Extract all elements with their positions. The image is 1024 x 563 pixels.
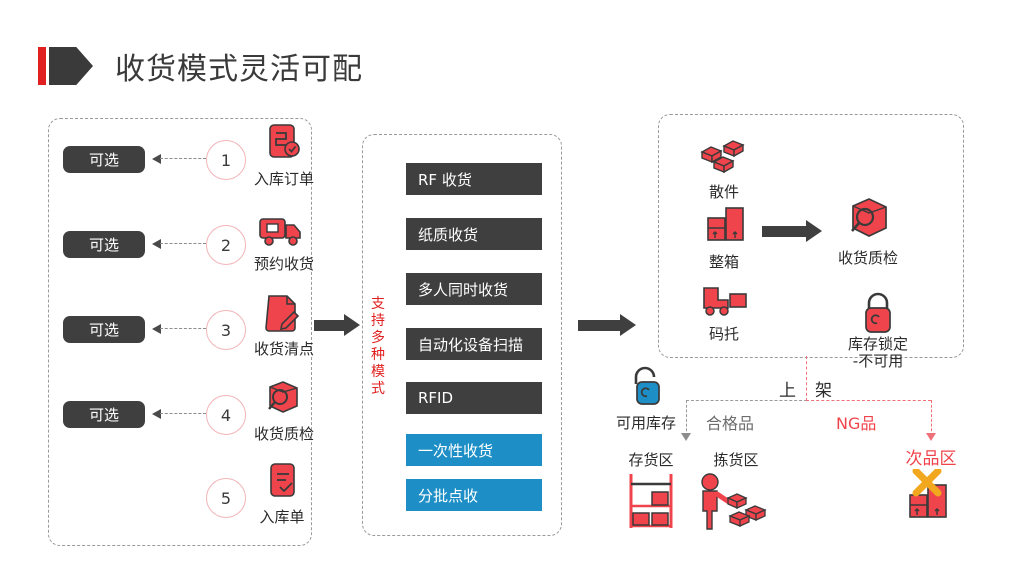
item-caption: 预约收货 — [254, 253, 310, 274]
step-number-circle: 4 — [206, 395, 246, 435]
destination-picking: 拣货区 — [686, 447, 786, 534]
mode-bar-rfid[interactable]: RFID — [406, 382, 542, 414]
item-icon-group: 收货质检 — [254, 377, 310, 444]
destination-caption: 存货区 — [605, 449, 697, 470]
list-item[interactable]: 可选 3 收货清点 — [48, 300, 310, 372]
receiving-inspection: 收货质检 — [818, 192, 918, 268]
item-icon-group: 入库单 — [254, 460, 310, 527]
lock-closed-icon — [832, 284, 924, 336]
quality-inspect-box-icon — [818, 192, 918, 244]
unit-pallet: 码托 — [684, 268, 764, 344]
available-stock-caption: 可用库存 — [600, 412, 692, 433]
mode-bar-onetime[interactable]: 一次性收货 — [406, 434, 542, 466]
inbound-order-icon — [254, 122, 310, 166]
defective-boxes-x-icon — [885, 469, 977, 539]
putaway-label-left: 上 — [779, 376, 796, 401]
available-stock: 可用库存 — [600, 366, 692, 433]
mode-bar-paper[interactable]: 纸质收货 — [406, 218, 542, 250]
picker-person-icon — [686, 470, 786, 534]
list-item[interactable]: 5 入库单 — [48, 468, 310, 540]
branch-ok-label: 合格品 — [706, 410, 754, 434]
branch-ng-label: NG品 — [836, 410, 876, 434]
inbound-receipt-doc-icon — [254, 460, 310, 504]
dashed-arrow-icon — [152, 413, 206, 415]
locked-caption-line2: -不可用 — [832, 353, 924, 370]
inspect-arrow-icon — [762, 220, 824, 242]
putaway-label-right: 架 — [815, 376, 832, 401]
optional-badge: 可选 — [63, 146, 145, 173]
destination-caption: 次品区 — [885, 444, 977, 469]
dashed-arrow-icon — [152, 243, 206, 245]
destination-caption: 拣货区 — [686, 449, 786, 470]
list-item[interactable]: 可选 4 收货质检 — [48, 385, 310, 457]
step-number-circle: 5 — [206, 478, 246, 518]
title-red-bar-icon — [38, 47, 46, 85]
locked-caption-line1: 库存锁定 — [832, 336, 924, 353]
item-icon-group: 收货清点 — [254, 292, 310, 359]
mid-panel-vertical-label: 支持多种模式 — [368, 296, 388, 398]
title-arrow-icon — [49, 47, 93, 85]
mode-bar-batch[interactable]: 分批点收 — [406, 479, 542, 511]
inspection-caption: 收货质检 — [818, 247, 918, 268]
mode-bar-multiuser[interactable]: 多人同时收货 — [406, 273, 542, 305]
item-icon-group: 预约收货 — [254, 207, 310, 274]
slide-canvas: 收货模式灵活可配 可选 1 入库订单 可选 2 — [0, 0, 1024, 563]
list-item[interactable]: 可选 1 入库订单 — [48, 130, 310, 202]
list-item[interactable]: 可选 2 预约收货 — [48, 215, 310, 287]
unit-case: 整箱 — [684, 196, 764, 272]
page-title: 收货模式灵活可配 — [38, 44, 363, 88]
unit-loose: 散件 — [684, 126, 764, 202]
quality-inspect-box-icon — [254, 377, 310, 421]
mode-bar-autoscan[interactable]: 自动化设备扫描 — [406, 328, 542, 360]
unit-caption: 码托 — [684, 323, 764, 344]
appointment-truck-icon — [254, 207, 310, 251]
dashed-arrow-icon — [152, 158, 206, 160]
putaway-vertical-line — [806, 356, 807, 401]
optional-badge: 可选 — [63, 316, 145, 343]
mode-bar-rf[interactable]: RF 收货 — [406, 163, 542, 195]
dashed-arrow-icon — [152, 328, 206, 330]
loose-pieces-icon — [684, 126, 764, 178]
optional-badge: 可选 — [63, 231, 145, 258]
item-caption: 收货清点 — [254, 338, 310, 359]
item-caption: 收货质检 — [254, 423, 310, 444]
item-caption: 入库单 — [254, 506, 310, 527]
page-title-text: 收货模式灵活可配 — [115, 44, 363, 88]
flow-arrow-1-icon — [314, 314, 360, 336]
step-number-circle: 3 — [206, 310, 246, 350]
inventory-locked: 库存锁定 -不可用 — [832, 284, 924, 370]
optional-badge: 可选 — [63, 401, 145, 428]
flow-arrow-2-icon — [578, 314, 638, 336]
ng-down-line — [931, 400, 932, 436]
item-caption: 入库订单 — [254, 168, 310, 189]
storage-rack-icon — [605, 470, 697, 534]
receipt-count-doc-icon — [254, 292, 310, 336]
lock-open-blue-icon — [600, 366, 692, 410]
step-number-circle: 2 — [206, 225, 246, 265]
item-icon-group: 入库订单 — [254, 122, 310, 189]
ng-arrowhead-icon — [926, 433, 936, 441]
full-case-icon — [684, 196, 764, 248]
ok-arrowhead-icon — [681, 433, 691, 441]
destination-storage: 存货区 — [605, 447, 697, 534]
destination-defective: 次品区 — [885, 442, 977, 539]
pallet-forklift-icon — [684, 268, 764, 320]
step-number-circle: 1 — [206, 140, 246, 180]
